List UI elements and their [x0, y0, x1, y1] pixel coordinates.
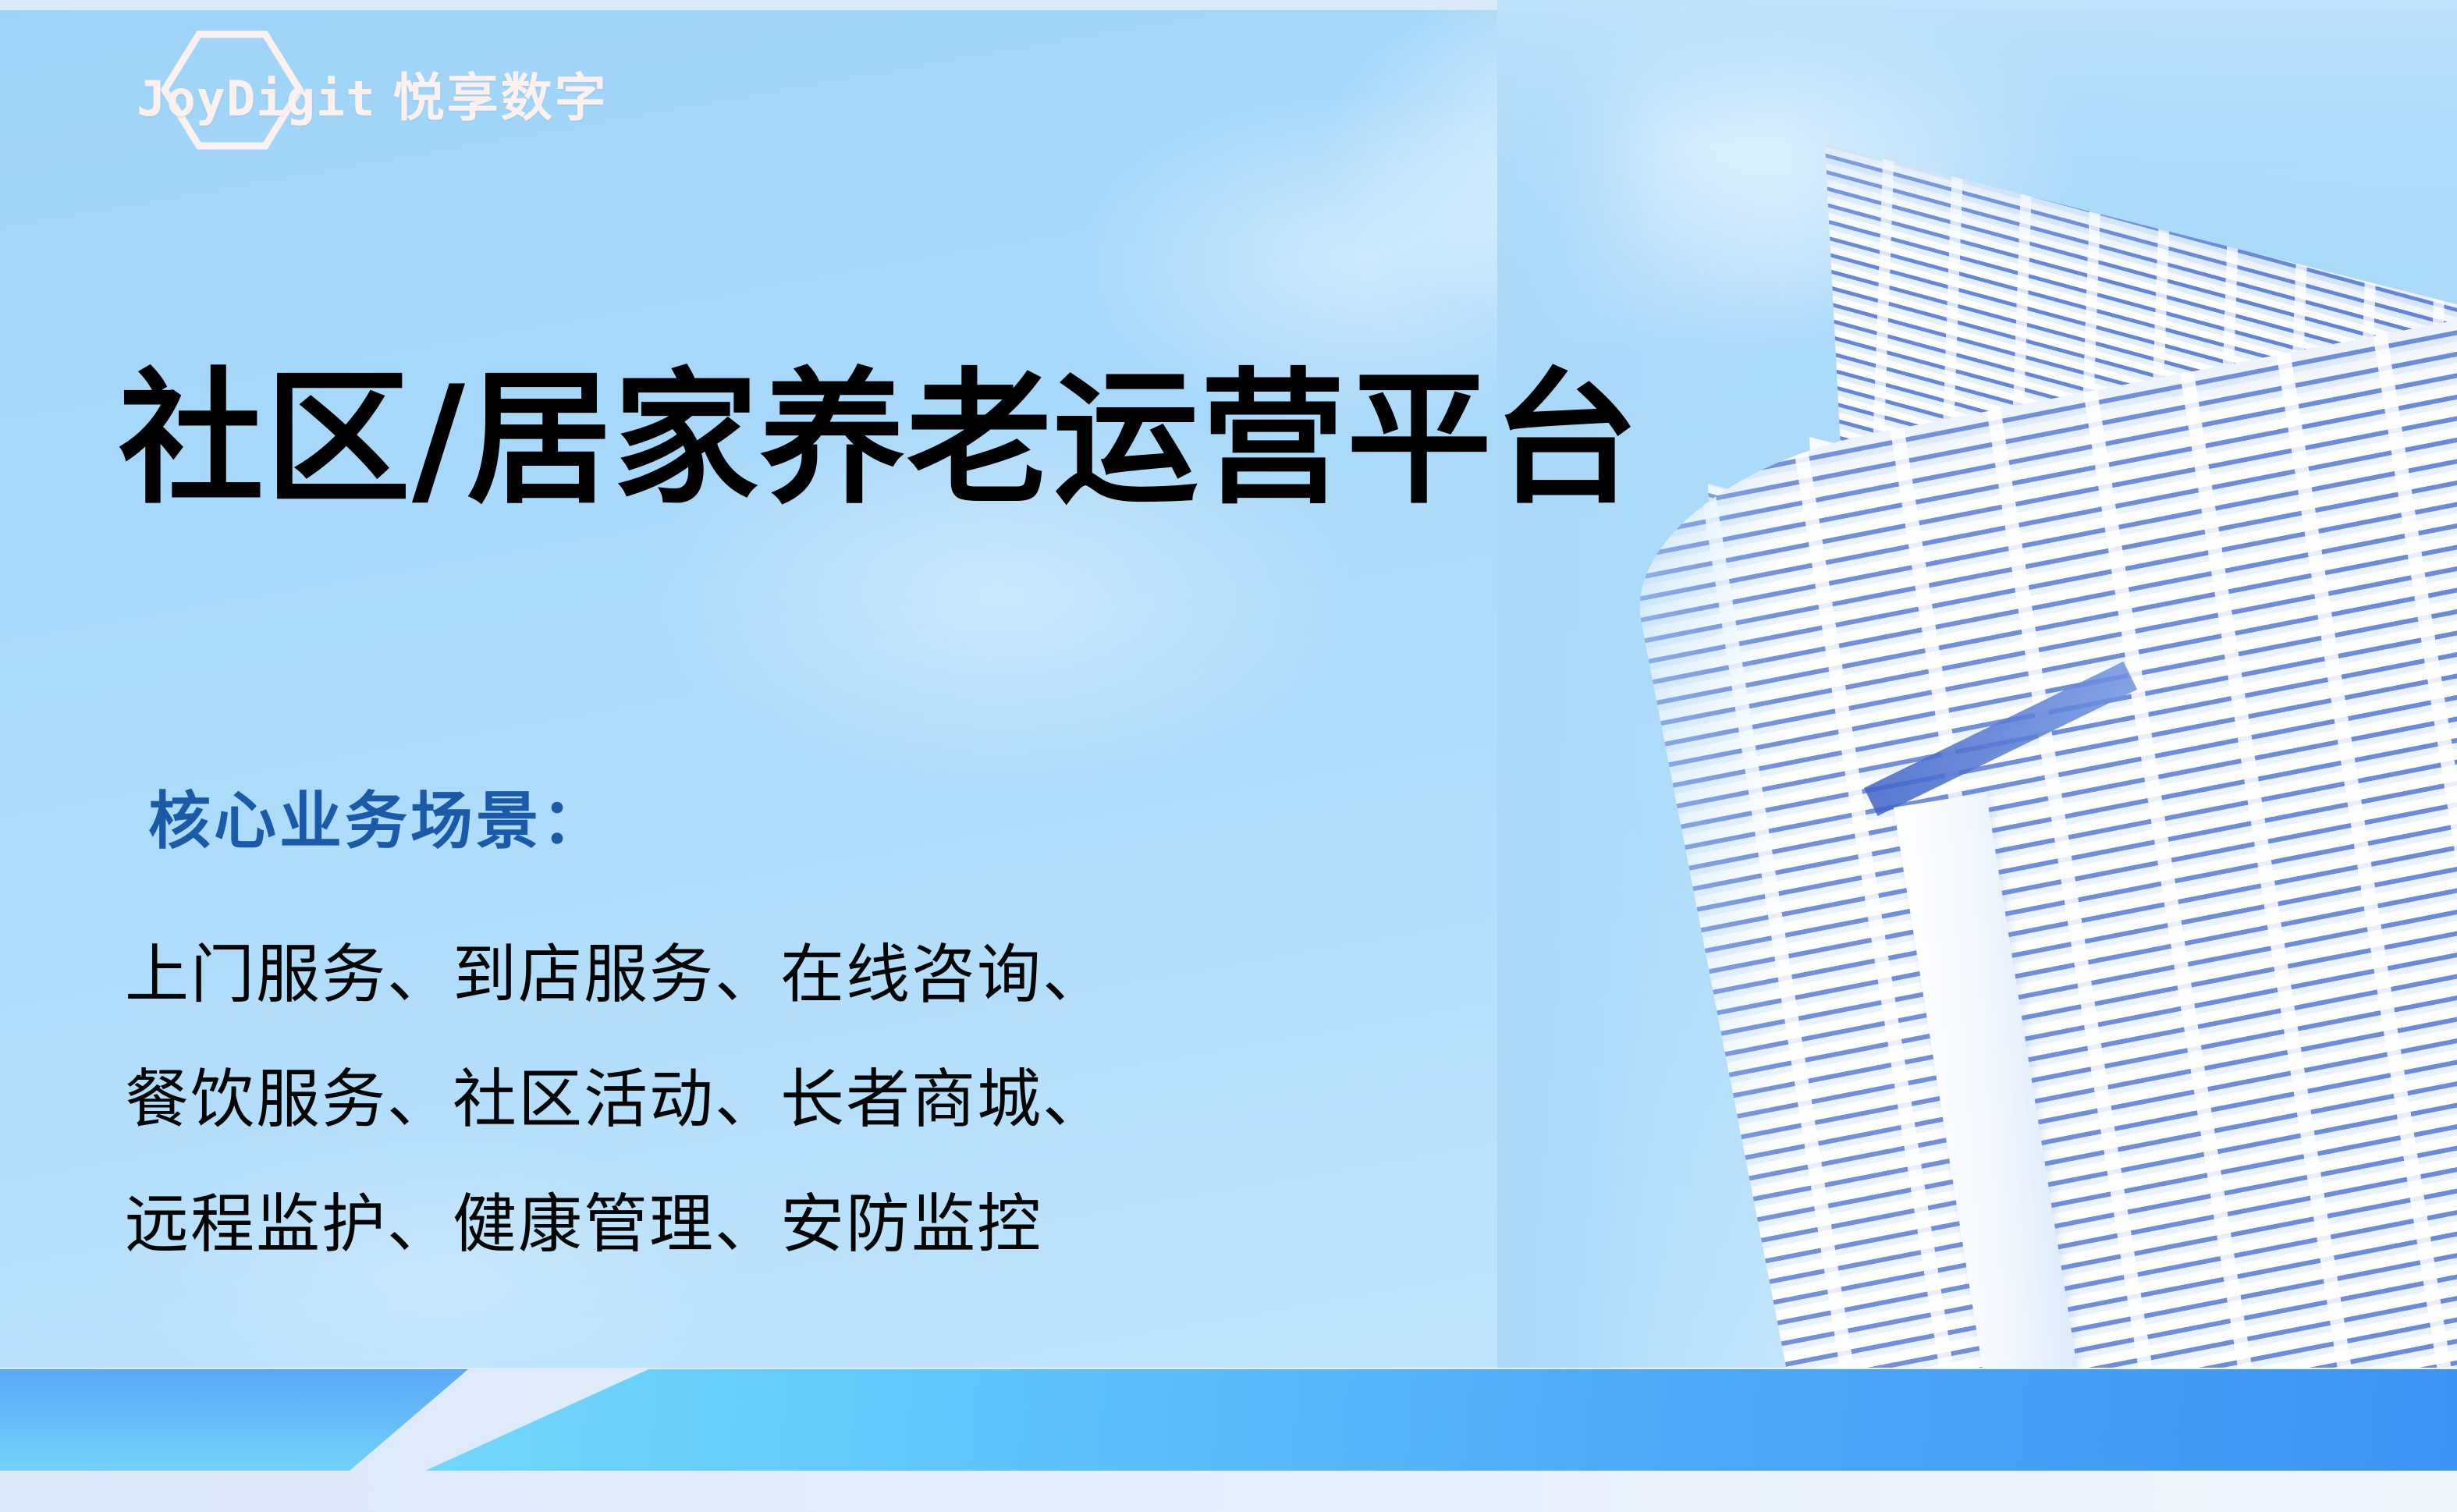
section-heading: 核心业务场景：	[148, 771, 607, 861]
scenario-line: 餐饮服务、社区活动、长者商城、	[125, 1038, 1607, 1162]
bar-segment-left	[0, 1369, 468, 1471]
scenario-list: 上门服务、到店服务、在线咨询、 餐饮服务、社区活动、长者商城、 远程监护、健康管…	[125, 913, 1607, 1287]
scenario-line: 远程监护、健康管理、安防监控	[125, 1162, 1607, 1287]
scenario-line: 上门服务、到店服务、在线咨询、	[125, 913, 1607, 1038]
logo-chinese-text: 悦享数字	[393, 56, 609, 131]
brand-logo: JoyDigit 悦享数字	[137, 28, 667, 153]
skyscraper-photo	[1497, 0, 2457, 1377]
bar-segment-right	[425, 1369, 2457, 1471]
slide-root: JoyDigit 悦享数字 社区/居家养老运营平台 核心业务场景： 上门服务、到…	[0, 0, 2457, 1512]
page-title: 社区/居家养老运营平台	[119, 361, 1640, 518]
bottom-accent-bar	[0, 1369, 2457, 1471]
logo-latin-text: JoyDigit	[137, 70, 376, 127]
logo-wordmark: JoyDigit 悦享数字	[137, 56, 609, 131]
